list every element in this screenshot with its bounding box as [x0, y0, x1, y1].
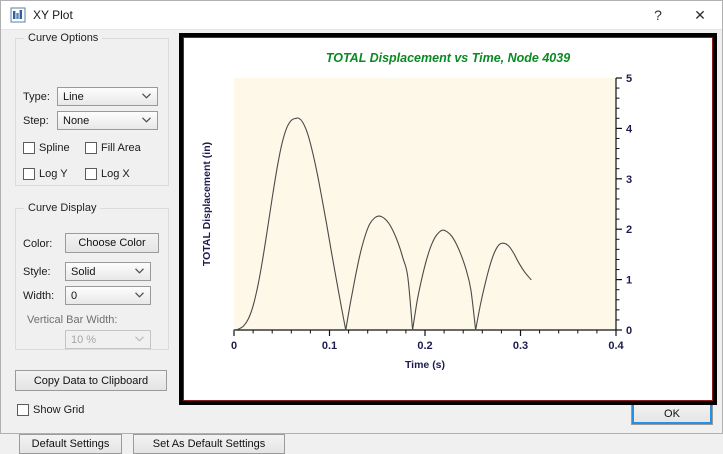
chevron-down-icon [135, 292, 144, 298]
xy-plot-icon [10, 7, 26, 23]
step-select[interactable]: None [57, 111, 158, 130]
x-axis-tick-label: 0.4 [608, 340, 624, 352]
log-y-checkbox[interactable]: Log Y [23, 168, 68, 180]
copy-data-to-clipboard-button[interactable]: Copy Data to Clipboard [15, 370, 167, 391]
y-axis-tick-label: 2 [626, 224, 632, 236]
plot-area-background [234, 78, 616, 330]
dialog-content: Curve Options Type: Line Step: None Spli… [1, 30, 722, 433]
vertical-bar-width-value: 10 % [71, 334, 96, 346]
fill-area-checkbox[interactable]: Fill Area [85, 142, 141, 154]
y-axis-tick-label: 5 [626, 73, 632, 85]
fill-area-checkbox-box [85, 142, 97, 154]
fill-area-checkbox-label: Fill Area [101, 142, 141, 154]
log-x-checkbox[interactable]: Log X [85, 168, 130, 180]
type-select-value: Line [63, 91, 84, 103]
set-as-default-settings-button[interactable]: Set As Default Settings [133, 434, 285, 454]
curve-options-legend: Curve Options [24, 32, 102, 44]
xy-plot-dialog: XY Plot ? ✕ Curve Options Type: Line Ste… [0, 0, 723, 434]
x-axis-tick-label: 0.2 [417, 340, 432, 352]
left-options-panel: Curve Options Type: Line Step: None Spli… [1, 30, 179, 433]
chevron-down-icon [142, 93, 151, 99]
x-axis-tick-label: 0.1 [322, 340, 337, 352]
plot-frame: TOTAL Displacement vs Time, Node 4039 TO… [179, 33, 717, 405]
style-select-value: Solid [71, 266, 95, 278]
step-select-value: None [63, 115, 89, 127]
close-button[interactable]: ✕ [678, 2, 722, 29]
y-axis: 012345 [616, 73, 633, 337]
x-axis-label: Time (s) [405, 359, 445, 371]
spline-checkbox-label: Spline [39, 142, 70, 154]
show-grid-checkbox[interactable]: Show Grid [17, 404, 84, 416]
plot-canvas[interactable]: TOTAL Displacement vs Time, Node 4039 TO… [183, 37, 713, 401]
y-axis-tick-label: 0 [626, 325, 632, 337]
help-button[interactable]: ? [638, 2, 678, 29]
log-y-checkbox-box [23, 168, 35, 180]
vertical-bar-width-label: Vertical Bar Width: [27, 314, 117, 326]
style-select[interactable]: Solid [65, 262, 151, 281]
chart-title: TOTAL Displacement vs Time, Node 4039 [326, 51, 570, 65]
window-title: XY Plot [33, 8, 73, 22]
color-label: Color: [23, 238, 52, 250]
choose-color-button[interactable]: Choose Color [65, 233, 159, 253]
width-label: Width: [23, 290, 54, 302]
chevron-down-icon [142, 117, 151, 123]
title-bar: XY Plot ? ✕ [1, 1, 722, 30]
width-select[interactable]: 0 [65, 286, 151, 305]
type-select[interactable]: Line [57, 87, 158, 106]
x-axis: 00.10.20.30.4 [231, 330, 625, 352]
ok-button[interactable]: OK [631, 402, 713, 425]
chart-svg: TOTAL Displacement vs Time, Node 4039 TO… [184, 38, 712, 400]
show-grid-checkbox-label: Show Grid [33, 404, 84, 416]
log-y-checkbox-label: Log Y [39, 168, 68, 180]
vertical-bar-width-select: 10 % [65, 330, 151, 349]
default-settings-button[interactable]: Default Settings [19, 434, 122, 454]
spline-checkbox-box [23, 142, 35, 154]
curve-display-legend: Curve Display [24, 202, 100, 214]
chevron-down-icon [135, 268, 144, 274]
y-axis-tick-label: 4 [626, 123, 633, 135]
y-axis-tick-label: 1 [626, 275, 632, 287]
style-label: Style: [23, 266, 51, 278]
y-axis-tick-label: 3 [626, 174, 632, 186]
y-axis-label: TOTAL Displacement (in) [201, 142, 213, 266]
spline-checkbox[interactable]: Spline [23, 142, 70, 154]
log-x-checkbox-box [85, 168, 97, 180]
show-grid-checkbox-box [17, 404, 29, 416]
x-axis-tick-label: 0 [231, 340, 237, 352]
width-select-value: 0 [71, 290, 77, 302]
step-label: Step: [23, 115, 49, 127]
log-x-checkbox-label: Log X [101, 168, 130, 180]
type-label: Type: [23, 91, 50, 103]
chevron-down-icon [135, 336, 144, 342]
x-axis-tick-label: 0.3 [513, 340, 528, 352]
